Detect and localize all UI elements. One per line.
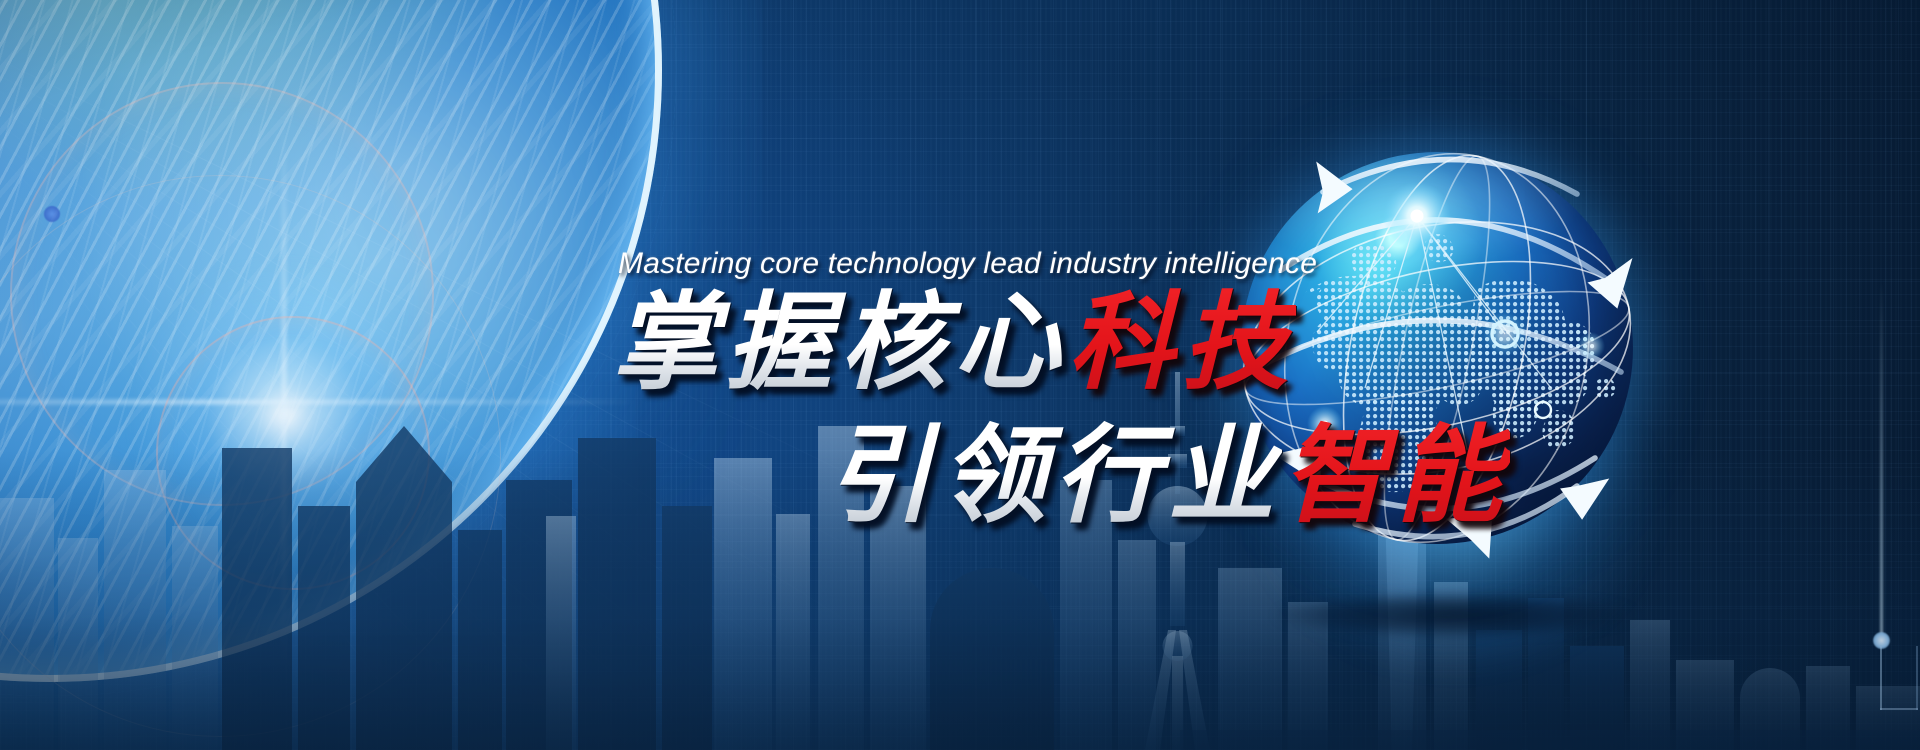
antenna-mast-secondary <box>1916 646 1918 710</box>
dotted-world-map <box>1301 234 1615 492</box>
antenna-mast <box>1880 646 1882 710</box>
antenna-light-bulb <box>1873 632 1890 649</box>
hero-banner: Mastering core technology lead industry … <box>0 0 1920 750</box>
antenna-cross-arm <box>1880 708 1918 710</box>
city-left-glow <box>60 350 880 750</box>
antenna-tower <box>1852 280 1912 750</box>
oriental-pearl-tower <box>1145 372 1210 750</box>
network-globe-shadow <box>1275 592 1635 638</box>
antenna-light-beam <box>1880 280 1883 640</box>
lens-flare-blue-dot <box>44 206 60 222</box>
network-globe-graphic <box>1205 120 1665 580</box>
